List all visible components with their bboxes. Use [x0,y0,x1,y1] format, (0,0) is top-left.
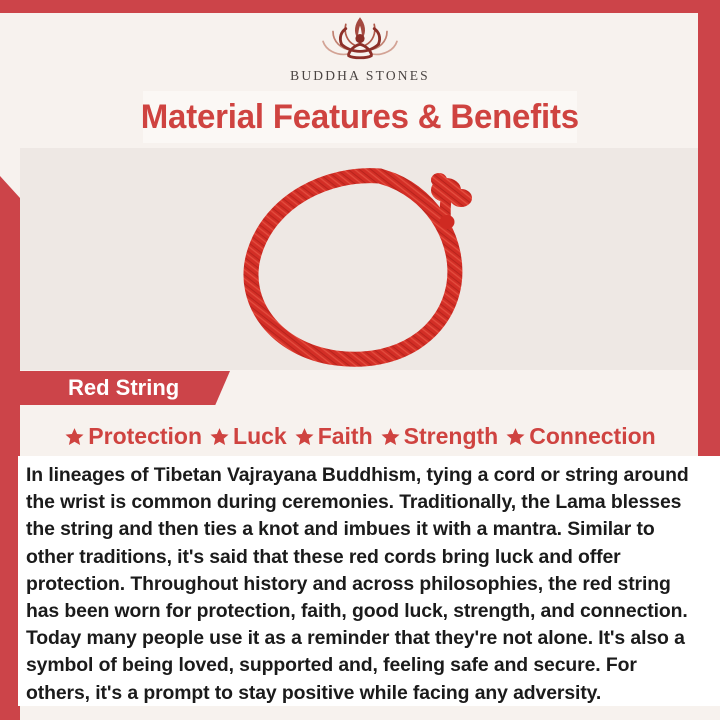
description-panel: In lineages of Tibetan Vajrayana Buddhis… [18,456,720,706]
star-icon [64,426,85,447]
star-icon [209,426,230,447]
brand-logo: BUDDHA STONES [0,13,720,91]
benefit-label: Luck [233,423,287,450]
lotus-meditation-figure-icon [317,13,403,67]
red-braided-string-bracelet-icon [232,158,502,370]
star-icon [505,426,526,447]
frame-left-bar-tip [0,176,20,198]
benefit-label: Protection [88,423,202,450]
benefit-label: Strength [404,423,499,450]
description-text: In lineages of Tibetan Vajrayana Buddhis… [26,462,694,707]
benefit-item: Protection [64,423,202,450]
benefit-item: Luck [209,423,287,450]
benefit-item: Connection [505,423,656,450]
product-photo [20,148,698,370]
page-title: Material Features & Benefits [141,98,579,137]
product-name-label: Red String [68,375,179,401]
product-name-tab: Red String [20,371,230,405]
product-feature-infographic: BUDDHA STONES Material Features & Benefi… [0,0,720,720]
brand-name: BUDDHA STONES [290,68,430,84]
frame-left-bar [0,198,20,720]
frame-top-bar [0,0,720,13]
star-icon [380,426,401,447]
benefits-row: Protection Luck Faith Strength Connectio… [20,419,700,453]
star-icon [294,426,315,447]
benefit-label: Faith [318,423,373,450]
benefit-item: Faith [294,423,373,450]
benefit-label: Connection [529,423,656,450]
benefit-item: Strength [380,423,499,450]
title-banner: Material Features & Benefits [143,91,577,143]
